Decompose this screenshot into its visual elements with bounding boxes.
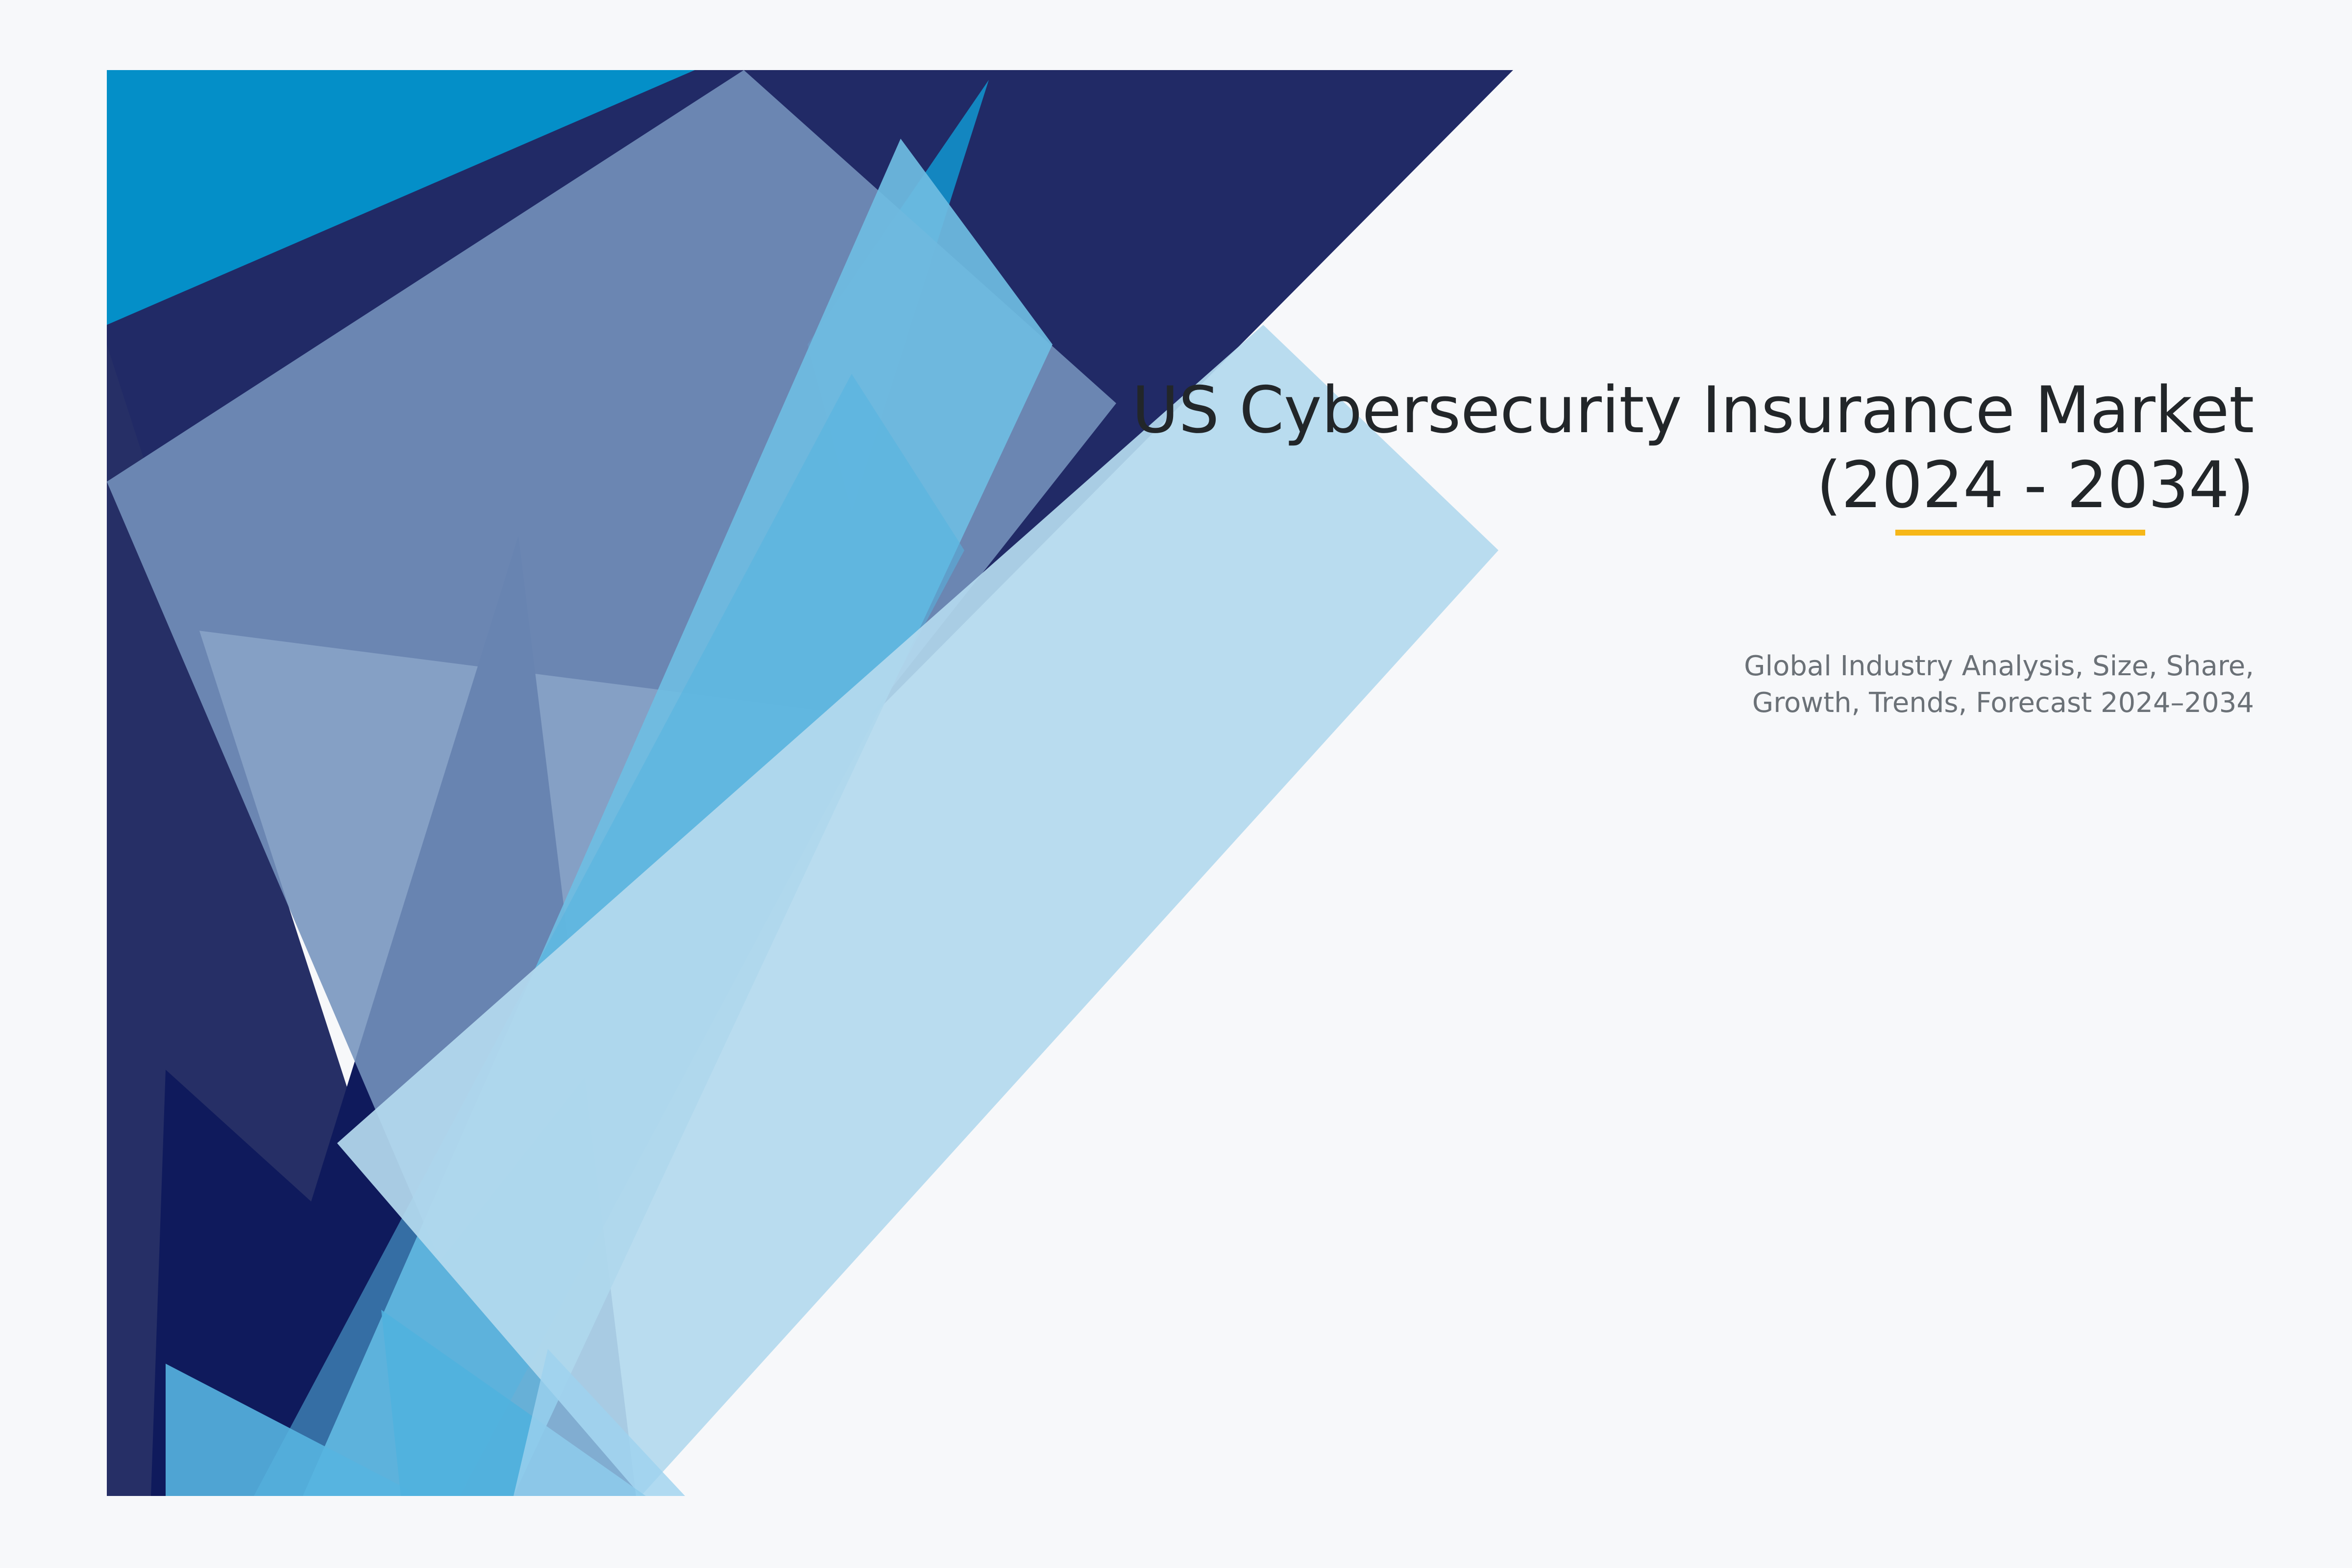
page-subtitle: Global Industry Analysis, Size, Share, G… [1421, 648, 2254, 721]
report-cover: US Cybersecurity Insurance Market (2024 … [0, 0, 2352, 1568]
title-block: US Cybersecurity Insurance Market (2024 … [931, 372, 2254, 523]
title-accent-underline [1895, 530, 2145, 536]
cover-artwork [107, 70, 1528, 1496]
abstract-geometric-polygons-svg [107, 70, 1528, 1496]
page-title: US Cybersecurity Insurance Market (2024 … [931, 372, 2254, 523]
